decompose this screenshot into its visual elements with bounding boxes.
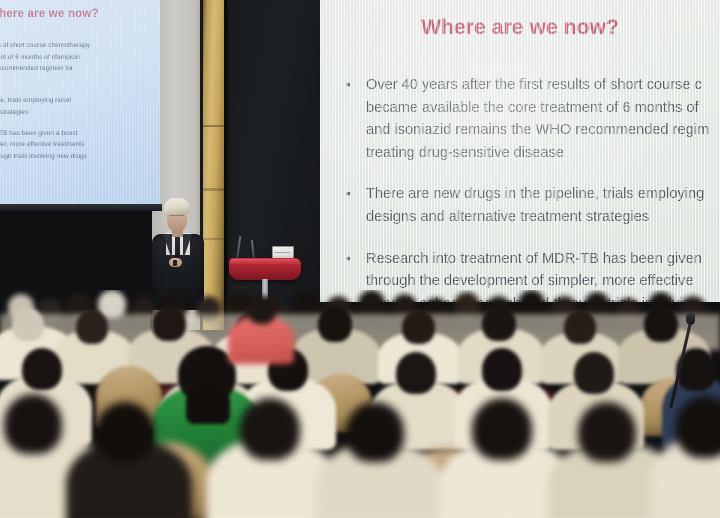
- speaker-lapel-left: [163, 234, 172, 260]
- left-screen-frame: [0, 204, 162, 211]
- audience: [0, 290, 720, 518]
- left-screen-scanlines: [0, 0, 160, 208]
- left-projection-screen: Where are we now? the first results of s…: [0, 0, 160, 208]
- conference-photo: Where are we now? the first results of s…: [0, 0, 720, 518]
- speaker-hair: [164, 198, 190, 215]
- main-projection-screen: Where are we now? Over 40 years after th…: [320, 0, 720, 302]
- projector-hotspot: [320, 0, 720, 302]
- boom-microphone-icon: [686, 312, 695, 325]
- speaker-lapel-right: [183, 234, 192, 260]
- lectern-edge: [230, 259, 300, 264]
- presentation-clicker-icon: [173, 260, 177, 266]
- wall-seam: [224, 0, 227, 330]
- audience-row-near: [0, 290, 720, 518]
